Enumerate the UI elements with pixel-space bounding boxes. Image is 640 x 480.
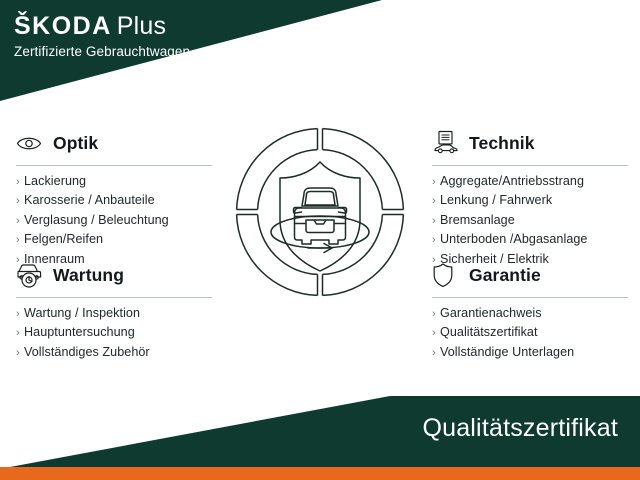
- list-item-label: Lackierung: [24, 174, 86, 188]
- chevron-right-icon: ›: [432, 192, 440, 210]
- section-wartung-header: Wartung: [16, 260, 212, 290]
- list-item-label: Unterboden /Abgasanlage: [440, 232, 588, 246]
- certified-vehicle-emblem: [232, 124, 408, 300]
- section-optik: Optik ›Lackierung ›Karosserie / Anbautei…: [16, 128, 212, 269]
- list-item: ›Felgen/Reifen: [16, 230, 212, 249]
- list-item-label: Vollständiges Zubehör: [24, 345, 150, 359]
- eye-icon: [16, 129, 46, 157]
- list-item-label: Verglasung / Beleuchtung: [24, 213, 169, 227]
- list-item-label: Hauptuntersuchung: [24, 325, 135, 339]
- list-item: ›Unterboden /Abgasanlage: [432, 230, 628, 249]
- section-garantie-header: Garantie: [432, 260, 628, 290]
- list-item-label: Aggregate/Antriebsstrang: [440, 174, 584, 188]
- chevron-right-icon: ›: [432, 344, 440, 362]
- list-item-label: Lenkung / Fahrwerk: [440, 193, 552, 207]
- chevron-right-icon: ›: [16, 344, 24, 362]
- list-item: ›Wartung / Inspektion: [16, 304, 212, 323]
- list-item: ›Vollständige Unterlagen: [432, 343, 628, 362]
- section-garantie: Garantie ›Garantienachweis ›Qualitätszer…: [432, 260, 628, 362]
- list-item: ›Hauptuntersuchung: [16, 323, 212, 342]
- section-optik-divider: [16, 165, 212, 166]
- list-item-label: Bremsanlage: [440, 213, 515, 227]
- section-technik-title: Technik: [469, 133, 535, 154]
- section-optik-header: Optik: [16, 128, 212, 158]
- section-wartung-title: Wartung: [53, 265, 124, 286]
- chevron-right-icon: ›: [16, 305, 24, 323]
- certificate-page: ŠKODAPlus Zertifizierte Gebrauchtwagen O…: [0, 0, 640, 480]
- logo-plus-text: Plus: [117, 12, 166, 40]
- list-item: ›Lenkung / Fahrwerk: [432, 191, 628, 210]
- chevron-right-icon: ›: [16, 212, 24, 230]
- list-item-label: Vollständige Unterlagen: [440, 345, 574, 359]
- list-item: ›Aggregate/Antriebsstrang: [432, 172, 628, 191]
- brand-logo: ŠKODAPlus Zertifizierte Gebrauchtwagen: [14, 14, 190, 59]
- section-garantie-list: ›Garantienachweis ›Qualitätszertifikat ›…: [432, 304, 628, 362]
- chevron-right-icon: ›: [16, 192, 24, 210]
- logo-subtitle: Zertifizierte Gebrauchtwagen: [14, 45, 190, 59]
- orange-stripe: [0, 467, 640, 480]
- footer-title: Qualitätszertifikat: [422, 414, 618, 443]
- section-technik-list: ›Aggregate/Antriebsstrang ›Lenkung / Fah…: [432, 172, 628, 269]
- chevron-right-icon: ›: [16, 173, 24, 191]
- list-item-label: Qualitätszertifikat: [440, 325, 538, 339]
- section-garantie-divider: [432, 297, 628, 298]
- section-wartung-list: ›Wartung / Inspektion ›Hauptuntersuchung…: [16, 304, 212, 362]
- logo-brand-text: ŠKODA: [14, 12, 112, 40]
- car-service-icon: [16, 261, 46, 289]
- chevron-right-icon: ›: [432, 324, 440, 342]
- section-technik-header: Technik: [432, 128, 628, 158]
- car-document-icon: [432, 129, 462, 157]
- chevron-right-icon: ›: [16, 231, 24, 249]
- list-item-label: Wartung / Inspektion: [24, 306, 140, 320]
- section-wartung-divider: [16, 297, 212, 298]
- chevron-right-icon: ›: [432, 231, 440, 249]
- shield-icon: [432, 261, 462, 289]
- list-item: ›Bremsanlage: [432, 211, 628, 230]
- list-item: ›Vollständiges Zubehör: [16, 343, 212, 362]
- list-item: ›Qualitätszertifikat: [432, 323, 628, 342]
- chevron-right-icon: ›: [16, 324, 24, 342]
- list-item-label: Felgen/Reifen: [24, 232, 103, 246]
- chevron-right-icon: ›: [432, 305, 440, 323]
- section-wartung: Wartung ›Wartung / Inspektion ›Hauptunte…: [16, 260, 212, 362]
- section-technik-divider: [432, 165, 628, 166]
- list-item: ›Verglasung / Beleuchtung: [16, 211, 212, 230]
- list-item: ›Lackierung: [16, 172, 212, 191]
- chevron-right-icon: ›: [432, 212, 440, 230]
- logo-wordmark: ŠKODAPlus: [14, 14, 190, 39]
- list-item: ›Karosserie / Anbauteile: [16, 191, 212, 210]
- list-item: ›Garantienachweis: [432, 304, 628, 323]
- section-optik-title: Optik: [53, 133, 98, 154]
- chevron-right-icon: ›: [432, 173, 440, 191]
- section-optik-list: ›Lackierung ›Karosserie / Anbauteile ›Ve…: [16, 172, 212, 269]
- list-item-label: Garantienachweis: [440, 306, 542, 320]
- list-item-label: Karosserie / Anbauteile: [24, 193, 155, 207]
- section-technik: Technik ›Aggregate/Antriebsstrang ›Lenku…: [432, 128, 628, 269]
- section-garantie-title: Garantie: [469, 265, 541, 286]
